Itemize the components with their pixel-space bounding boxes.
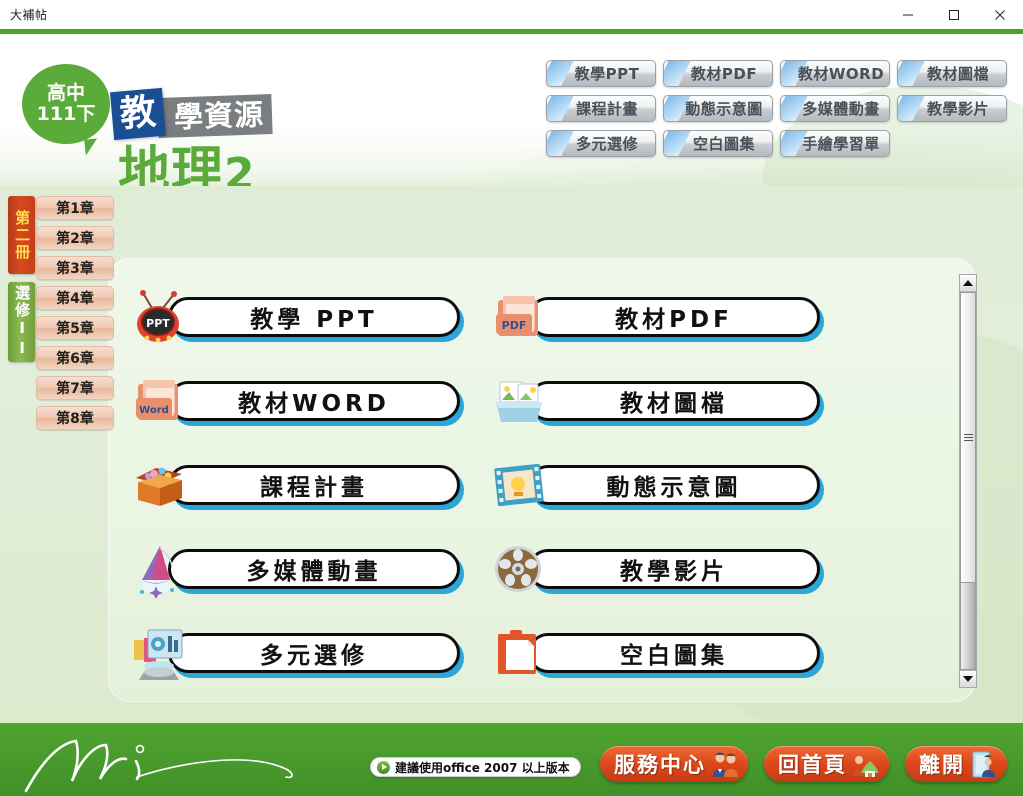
header: 高中 111下 學資源 教 地理2 教學PPT 教材PDF 教材WORD 教材圖… [0,34,1023,186]
quick-button-word[interactable]: 教材WORD [780,60,890,87]
quick-button-pdf[interactable]: 教材PDF [663,60,773,87]
menu-item-label[interactable]: 空白圖集 [528,633,820,673]
sidebar-tab-volume[interactable]: 第二冊 [8,196,35,274]
quick-button-label: 多媒體動畫 [790,98,880,119]
quick-button-elective[interactable]: 多元選修 [546,130,656,157]
quick-button-label: 教材圖檔 [915,63,989,84]
maximize-button[interactable] [931,0,977,29]
window-title: 大補帖 [10,6,48,23]
quick-button-animation-diagram[interactable]: 動態示意圖 [663,95,773,122]
menu-item-blank-atlas[interactable]: 空白圖集 [490,616,820,690]
resource-menu: PPT 教學 PPT PDF 教材PDF [130,280,850,690]
scrollbar-lower-region[interactable] [960,583,976,670]
resource-label-rest: 學資源 [157,94,272,138]
quick-button-label: 教學影片 [915,98,989,119]
subject-number: 2 [224,149,256,186]
quick-button-images[interactable]: 教材圖檔 [897,60,1007,87]
svg-text:PDF: PDF [502,319,527,332]
sidebar-item-chapter-1[interactable]: 第1章 [36,196,114,220]
support-staff-icon [710,749,740,779]
play-icon [377,761,390,774]
quick-button-label: 多元選修 [564,133,638,154]
projector-icon [130,624,188,682]
scrollbar-track[interactable] [960,292,976,670]
menu-item-elective-courses[interactable]: 多元選修 [130,616,460,690]
page-title: 地理2 [118,146,256,186]
menu-item-material-images[interactable]: 教材圖檔 [490,364,820,438]
menu-item-teaching-video[interactable]: 教學影片 [490,532,820,606]
quick-button-label: 教材PDF [679,63,757,84]
pdf-folder-icon: PDF [490,288,548,346]
menu-item-label[interactable]: 多元選修 [168,633,460,673]
film-reel-icon [490,540,548,598]
quick-access-toolbar: 教學PPT 教材PDF 教材WORD 教材圖檔 課程計畫 動態示意圖 多媒體動畫… [546,60,1007,157]
scroll-up-arrow-icon[interactable] [960,275,976,292]
scrollbar-thumb[interactable] [960,292,976,583]
clipboard-icon [490,624,548,682]
quick-button-video[interactable]: 教學影片 [897,95,1007,122]
vertical-scrollbar[interactable] [959,274,977,688]
svg-text:Word: Word [139,405,169,416]
window-controls [885,0,1023,29]
svg-text:PPT: PPT [146,317,170,330]
sidebar-item-chapter-6[interactable]: 第6章 [36,346,114,370]
word-folder-icon: Word [130,372,188,430]
menu-item-course-plan[interactable]: 課程計畫 [130,448,460,522]
menu-item-label[interactable]: 教學 PPT [168,297,460,337]
exit-door-icon [969,749,999,779]
home-label: 回首頁 [778,749,847,779]
grade-badge-line2: 111下 [37,104,96,125]
close-button[interactable] [977,0,1023,29]
footer-actions: 服務中心 回首頁 離開 [600,746,1007,782]
quick-button-label: 手繪學習單 [790,133,880,154]
menu-item-label[interactable]: 教材圖檔 [528,381,820,421]
quick-button-blank-atlas[interactable]: 空白圖集 [663,130,773,157]
menu-item-teaching-ppt[interactable]: PPT 教學 PPT [130,280,460,354]
grade-badge-line1: 高中 [47,83,85,104]
menu-item-label[interactable]: 動態示意圖 [528,465,820,505]
quick-button-label: 空白圖集 [681,133,755,154]
menu-item-label[interactable]: 課程計畫 [168,465,460,505]
resource-label-first: 教 [110,88,166,140]
service-center-label: 服務中心 [614,749,706,779]
menu-item-label[interactable]: 教材WORD [168,381,460,421]
exit-label: 離開 [919,749,965,779]
image-box-icon [490,372,548,430]
title-bar: 大補帖 [0,0,1023,29]
sidebar-item-chapter-7[interactable]: 第7章 [36,376,114,400]
minimize-button[interactable] [885,0,931,29]
sidebar-item-chapter-2[interactable]: 第2章 [36,226,114,250]
menu-item-multimedia-animation[interactable]: 多媒體動畫 [130,532,460,606]
chapter-list: 第1章 第2章 第3章 第4章 第5章 第6章 第7章 第8章 [36,196,114,436]
home-button[interactable]: 回首頁 [764,746,889,782]
office-version-note: 建議使用office 2007 以上版本 [370,757,581,777]
menu-item-animation-diagram[interactable]: 動態示意圖 [490,448,820,522]
office-note-text: 建議使用office 2007 以上版本 [395,759,570,776]
menu-item-label[interactable]: 教學影片 [528,549,820,589]
filmstrip-icon [490,456,548,514]
brand-logo [18,725,318,796]
menu-item-label[interactable]: 多媒體動畫 [168,549,460,589]
home-icon [851,749,881,779]
quick-button-label: 教學PPT [563,63,640,84]
menu-item-material-pdf[interactable]: PDF 教材PDF [490,280,820,354]
menu-item-material-word[interactable]: Word 教材WORD [130,364,460,438]
quick-button-label: 動態示意圖 [673,98,763,119]
scroll-down-arrow-icon[interactable] [960,670,976,687]
quick-button-course-plan[interactable]: 課程計畫 [546,95,656,122]
tv-ppt-icon: PPT [130,288,188,346]
quick-button-multimedia[interactable]: 多媒體動畫 [780,95,890,122]
sidebar-item-chapter-4[interactable]: 第4章 [36,286,114,310]
grade-badge: 高中 111下 [22,64,110,144]
quick-button-handdrawn-worksheet[interactable]: 手繪學習單 [780,130,890,157]
treasure-box-icon [130,456,188,514]
subject-name: 地理 [118,142,224,186]
service-center-button[interactable]: 服務中心 [600,746,748,782]
quick-button-ppt[interactable]: 教學PPT [546,60,656,87]
sidebar: 第二冊 選修II 第1章 第2章 第3章 第4章 第5章 第6章 第7章 第8章 [0,186,118,723]
quick-button-label: 課程計畫 [564,98,638,119]
sidebar-tab-elective[interactable]: 選修II [8,282,35,362]
menu-item-label[interactable]: 教材PDF [528,297,820,337]
sidebar-item-chapter-5[interactable]: 第5章 [36,316,114,340]
sidebar-item-chapter-3[interactable]: 第3章 [36,256,114,280]
exit-button[interactable]: 離開 [905,746,1007,782]
application-window: 大補帖 高中 111下 學資源 教 地理2 教學PPT 教材PDF 教 [0,0,1023,796]
magic-hat-icon [130,540,188,598]
sidebar-item-chapter-8[interactable]: 第8章 [36,406,114,430]
quick-button-label: 教材WORD [786,63,884,84]
